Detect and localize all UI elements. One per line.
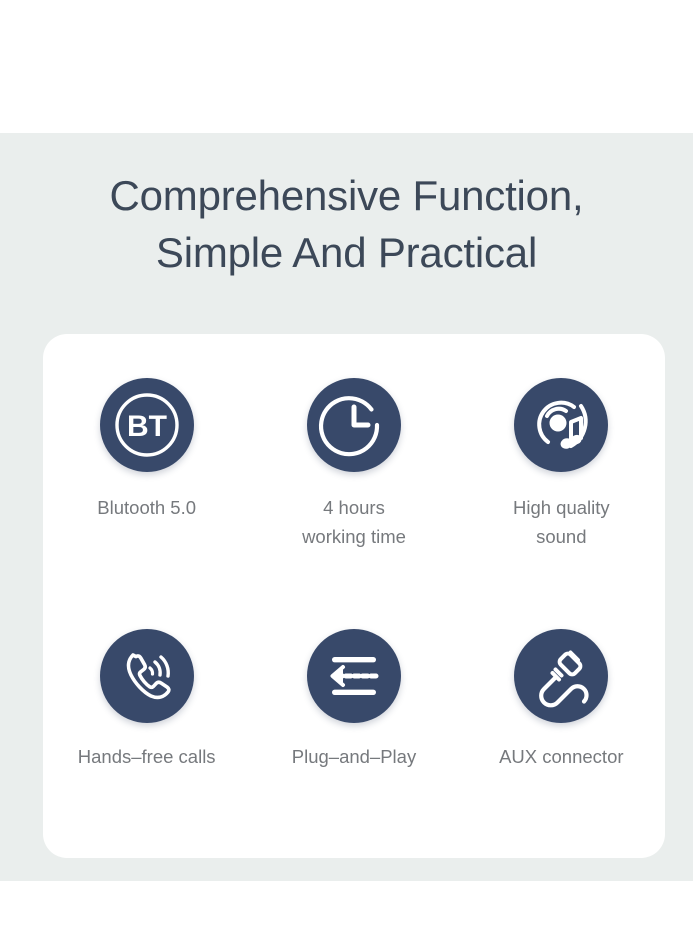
feature-label: Blutooth 5.0 (97, 494, 196, 523)
feature-card: BT Blutooth 5.0 4 hours working time (43, 334, 665, 858)
feature-page: Comprehensive Function, Simple And Pract… (0, 0, 693, 945)
feature-plug-and-play[interactable]: Plug–and–Play (250, 629, 457, 772)
feature-grid: BT Blutooth 5.0 4 hours working time (43, 334, 665, 858)
clock-icon (307, 378, 401, 472)
feature-working-time[interactable]: 4 hours working time (250, 378, 457, 551)
bt-label: BT (127, 410, 167, 443)
feature-bluetooth[interactable]: BT Blutooth 5.0 (43, 378, 250, 523)
feature-label: 4 hours working time (302, 494, 406, 551)
feature-label: High quality sound (513, 494, 610, 551)
phone-handset-waves-icon (100, 629, 194, 723)
feature-row-bottom: Hands–free calls Plug–and–Play (43, 607, 665, 858)
arrow-lines-icon (307, 629, 401, 723)
feature-sound-quality[interactable]: High quality sound (458, 378, 665, 551)
feature-label: Plug–and–Play (292, 743, 416, 772)
feature-aux-connector[interactable]: AUX connector (458, 629, 665, 772)
feature-label: AUX connector (499, 743, 623, 772)
vinyl-music-note-icon (514, 378, 608, 472)
aux-plug-cable-icon (514, 629, 608, 723)
feature-label: Hands–free calls (78, 743, 216, 772)
feature-hands-free-calls[interactable]: Hands–free calls (43, 629, 250, 772)
feature-row-top: BT Blutooth 5.0 4 hours working time (43, 334, 665, 607)
bluetooth-bt-icon: BT (100, 378, 194, 472)
page-title: Comprehensive Function, Simple And Pract… (0, 168, 693, 281)
